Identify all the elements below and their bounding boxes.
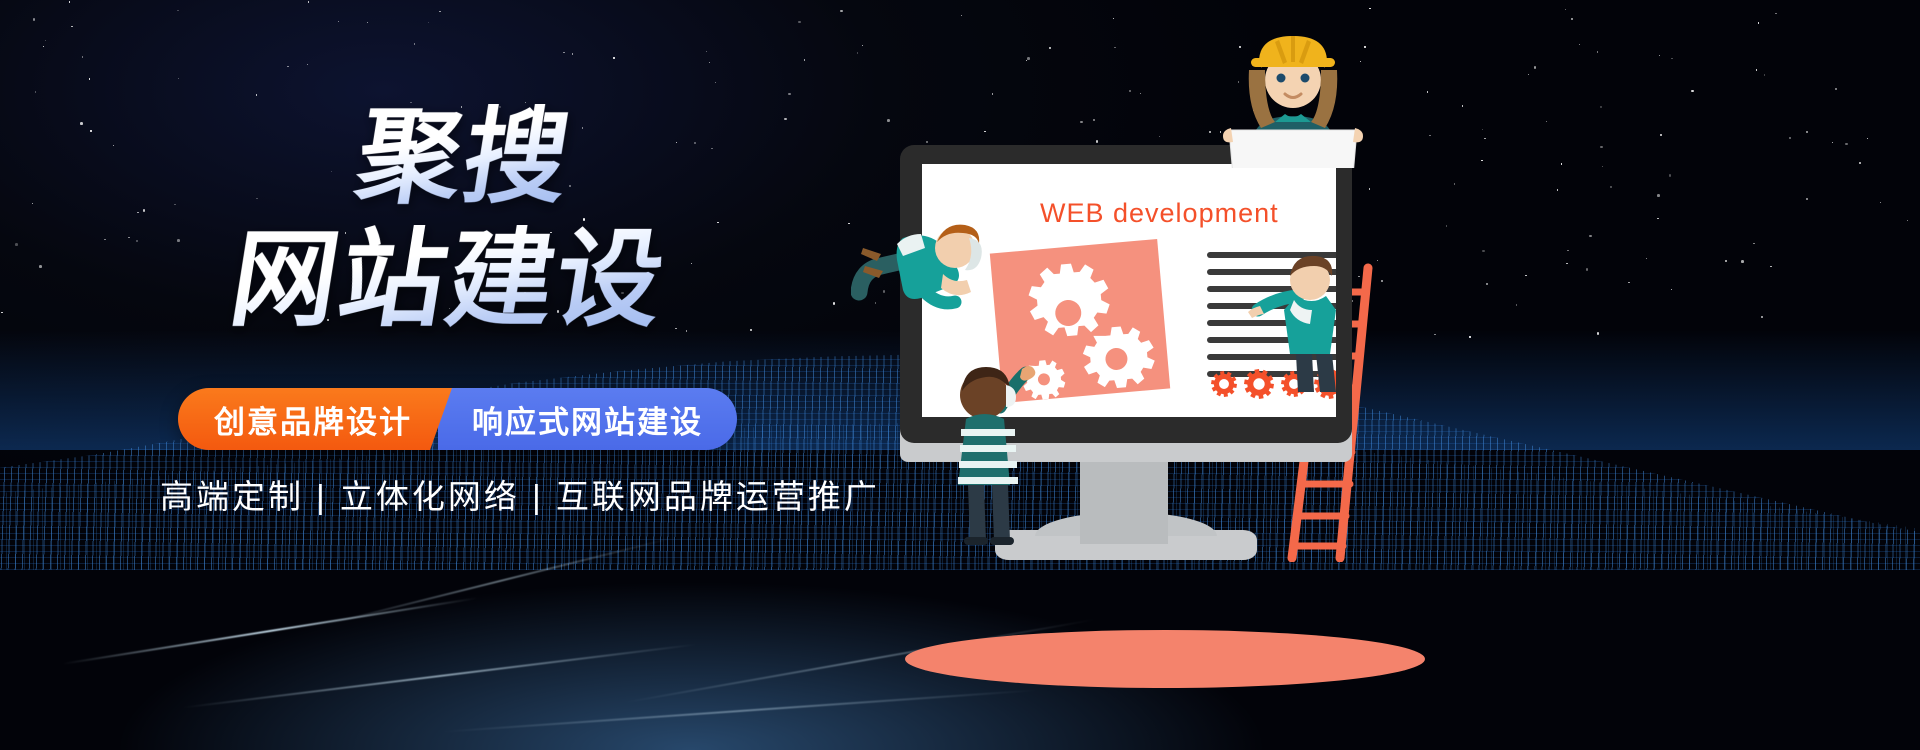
page-title-line-1: 聚搜 [349,104,578,213]
illustration: WEB development [845,0,1920,750]
engineer-with-hardhat [1223,18,1363,168]
screen-heading: WEB development [1040,198,1279,229]
promo-banner: 聚搜 网站建设 创意品牌设计 响应式网站建设 高端定制 | 立体化网络 | 互联… [0,0,1920,750]
page-title-line-2: 网站建设 [223,225,673,336]
monitor-neck [1080,458,1168,544]
worker-on-ladder [1240,252,1350,392]
worker-teal-lying [851,218,1001,323]
tagline: 高端定制 | 立体化网络 | 互联网品牌运营推广 [160,470,880,518]
ground-ellipse [905,630,1425,688]
service-tag-brand-design[interactable]: 创意品牌设计 [178,388,452,450]
service-pill-group[interactable]: 创意品牌设计 响应式网站建设 [178,388,737,450]
service-tag-responsive-site[interactable]: 响应式网站建设 [438,388,737,450]
gear-icon [1209,369,1239,399]
headline-block: 聚搜 网站建设 创意品牌设计 响应式网站建设 高端定制 | 立体化网络 | 互联… [0,0,900,750]
worker-striped-child [948,355,1040,545]
